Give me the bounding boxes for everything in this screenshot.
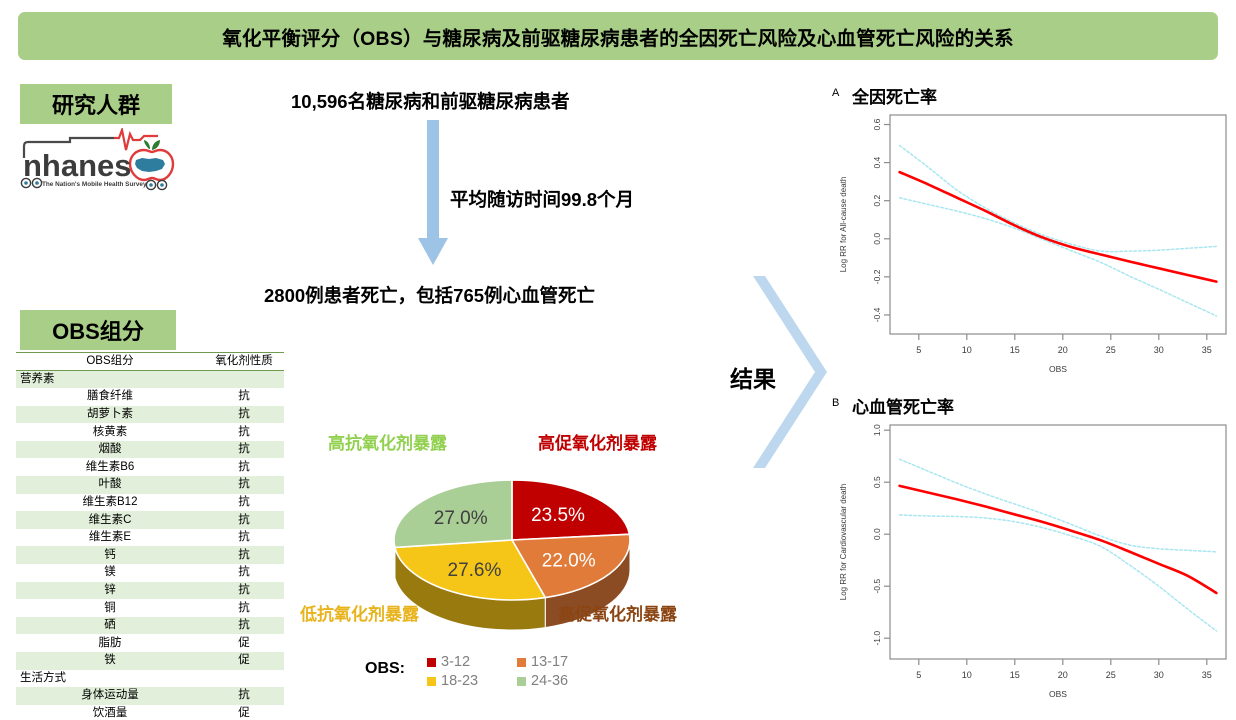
component-name: 铜	[16, 599, 204, 617]
y-axis-label: Log RR for Cardiovascular death	[839, 484, 848, 601]
y-tick-label: 0.6	[872, 118, 882, 130]
component-name: 核黄素	[16, 423, 204, 441]
table-row: 核黄素抗	[16, 423, 284, 441]
y-tick-label: 0.4	[872, 156, 882, 168]
y-tick-label: 0.0	[872, 528, 882, 540]
x-axis-label: OBS	[1049, 364, 1067, 374]
y-tick-label: -0.5	[872, 579, 882, 594]
down-arrow-icon	[415, 120, 451, 270]
oxidant-property: 抗	[204, 476, 284, 494]
oxidant-property	[204, 371, 284, 389]
legend-swatch-1	[517, 658, 526, 667]
oxidant-property: 促	[204, 652, 284, 670]
x-tick-label: 25	[1106, 670, 1116, 680]
legend-label-1: 13-17	[531, 654, 568, 670]
y-tick-label: -0.4	[872, 307, 882, 322]
oxidant-property: 抗	[204, 494, 284, 512]
legend-label-2: 18-23	[441, 673, 478, 689]
component-name: 维生素E	[16, 529, 204, 547]
nhanes-tagline: The Nation's Mobile Health Survey	[42, 181, 147, 188]
table-header-row: OBS组分 氧化剂性质	[16, 353, 284, 371]
x-tick-label: 30	[1154, 345, 1164, 355]
legend-swatch-3	[517, 677, 526, 686]
section-header-obs-components-label: OBS组分	[52, 314, 144, 346]
table-row: 烟酸抗	[16, 441, 284, 459]
x-tick-label: 10	[962, 345, 972, 355]
legend-item-2: 18-23	[427, 673, 478, 689]
table-row: 叶酸抗	[16, 476, 284, 494]
legend-item-3: 24-36	[517, 673, 568, 689]
x-tick-label: 5	[916, 345, 921, 355]
y-tick-label: -1.0	[872, 631, 882, 646]
panel-letter-a: A	[832, 87, 839, 99]
y-tick-label: 1.0	[872, 424, 882, 436]
table-row: 维生素B12抗	[16, 494, 284, 512]
component-name: 铁	[16, 652, 204, 670]
table-row: 镁抗	[16, 564, 284, 582]
table-row: 身体运动量抗	[16, 687, 284, 705]
page-title-banner: 氧化平衡评分（OBS）与糖尿病及前驱糖尿病患者的全因死亡风险及心血管死亡风险的关…	[18, 12, 1218, 60]
table-row: 胡萝卜素抗	[16, 406, 284, 424]
group-label: 营养素	[16, 371, 204, 389]
table-row: 维生素C抗	[16, 511, 284, 529]
panel-title-b: 心血管死亡率	[852, 393, 954, 418]
pie-annotation-low-antioxidant: 低抗氧化剂暴露	[300, 600, 419, 625]
oxidant-property: 抗	[204, 617, 284, 635]
pie-data-label-2: 27.6%	[448, 560, 502, 581]
oxidant-property: 抗	[204, 599, 284, 617]
chart-panel-all-cause-mortality: A 全因死亡率 -0.4-0.20.00.20.40.6Log RR for A…	[830, 85, 1236, 390]
x-axis-label: OBS	[1049, 689, 1067, 699]
component-name: 钙	[16, 546, 204, 564]
x-tick-label: 20	[1058, 670, 1068, 680]
table-group-row: 营养素	[16, 371, 284, 389]
component-name: 脂肪	[16, 634, 204, 652]
pie-annotation-high-prooxidant-top: 高促氧化剂暴露	[538, 429, 657, 454]
legend-label-0: 3-12	[441, 654, 470, 670]
oxidant-property: 促	[204, 705, 284, 720]
plot-b-svg: -1.0-0.50.00.51.0Log RR for Cardiovascul…	[830, 417, 1236, 715]
table-group-row: 生活方式	[16, 670, 284, 688]
table-row: 锌抗	[16, 582, 284, 600]
column-header-property: 氧化剂性质	[204, 353, 284, 371]
legend-label-3: 24-36	[531, 673, 568, 689]
legend-item-0: 3-12	[427, 654, 470, 670]
component-name: 维生素B12	[16, 494, 204, 512]
nhanes-logo: nhanes The Nation's Mobile Health Survey	[18, 128, 178, 194]
x-tick-label: 35	[1202, 670, 1212, 680]
y-tick-label: 0.0	[872, 233, 882, 245]
legend-item-1: 13-17	[517, 654, 568, 670]
y-tick-label: 0.2	[872, 195, 882, 207]
oxidant-property: 抗	[204, 441, 284, 459]
component-name: 叶酸	[16, 476, 204, 494]
pie-annotation-high-prooxidant-bottom: 高促氧化剂暴露	[558, 600, 677, 625]
table-row: 维生素B6抗	[16, 458, 284, 476]
legend-swatch-0	[427, 658, 436, 667]
component-name: 维生素B6	[16, 458, 204, 476]
oxidant-property: 抗	[204, 582, 284, 600]
x-tick-label: 15	[1010, 345, 1020, 355]
oxidant-property: 抗	[204, 458, 284, 476]
page-title: 氧化平衡评分（OBS）与糖尿病及前驱糖尿病患者的全因死亡风险及心血管死亡风险的关…	[222, 22, 1013, 51]
results-label: 结果	[730, 360, 776, 394]
table-row: 铜抗	[16, 599, 284, 617]
component-name: 身体运动量	[16, 687, 204, 705]
panel-letter-b: B	[832, 397, 839, 409]
pie-data-label-0: 23.5%	[531, 505, 585, 526]
x-tick-label: 15	[1010, 670, 1020, 680]
pie-legend-title: OBS:	[365, 660, 405, 678]
oxidant-property: 抗	[204, 511, 284, 529]
pie-annotation-high-antioxidant: 高抗氧化剂暴露	[328, 429, 447, 454]
oxidant-property: 抗	[204, 423, 284, 441]
oxidant-property: 抗	[204, 406, 284, 424]
table-row: 钙抗	[16, 546, 284, 564]
component-name: 硒	[16, 617, 204, 635]
table-row: 硒抗	[16, 617, 284, 635]
obs-components-table: OBS组分 氧化剂性质 营养素膳食纤维抗胡萝卜素抗核黄素抗烟酸抗维生素B6抗叶酸…	[16, 352, 284, 720]
section-header-obs-components: OBS组分	[20, 310, 176, 350]
chart-panel-cardiovascular-mortality: B 心血管死亡率 -1.0-0.50.00.51.0Log RR for Car…	[830, 395, 1236, 715]
component-name: 胡萝卜素	[16, 406, 204, 424]
table-row: 饮酒量促	[16, 705, 284, 720]
flow-deaths-text: 2800例患者死亡，包括765例心血管死亡	[264, 282, 595, 308]
component-name: 烟酸	[16, 441, 204, 459]
pie-data-label-1: 22.0%	[542, 550, 596, 571]
component-name: 镁	[16, 564, 204, 582]
nhanes-wordmark: nhanes	[23, 148, 132, 183]
y-axis-label: Log RR for All-cause death	[839, 177, 848, 273]
x-tick-label: 25	[1106, 345, 1116, 355]
oxidant-property: 抗	[204, 564, 284, 582]
component-name: 锌	[16, 582, 204, 600]
oxidant-property: 抗	[204, 388, 284, 406]
oxidant-property	[204, 670, 284, 688]
plot-a-svg: -0.4-0.20.00.20.40.6Log RR for All-cause…	[830, 107, 1236, 390]
oxidant-property: 抗	[204, 546, 284, 564]
legend-swatch-2	[427, 677, 436, 686]
column-header-component: OBS组分	[16, 353, 204, 371]
y-tick-label: -0.2	[872, 269, 882, 284]
table-row: 铁促	[16, 652, 284, 670]
x-tick-label: 30	[1154, 670, 1164, 680]
section-header-study-population-label: 研究人群	[52, 88, 140, 120]
x-tick-label: 5	[916, 670, 921, 680]
panel-title-a: 全因死亡率	[852, 83, 937, 108]
component-name: 维生素C	[16, 511, 204, 529]
group-label: 生活方式	[16, 670, 204, 688]
flow-cohort-text: 10,596名糖尿病和前驱糖尿病患者	[291, 88, 570, 114]
table-row: 维生素E抗	[16, 529, 284, 547]
table-row: 膳食纤维抗	[16, 388, 284, 406]
x-tick-label: 20	[1058, 345, 1068, 355]
component-name: 饮酒量	[16, 705, 204, 720]
oxidant-property: 抗	[204, 687, 284, 705]
x-tick-label: 10	[962, 670, 972, 680]
section-header-study-population: 研究人群	[20, 84, 172, 124]
flow-followup-text: 平均随访时间99.8个月	[450, 186, 634, 212]
pie-legend: OBS: 3-12 13-17 18-23 24-36	[365, 650, 625, 696]
oxidant-property: 促	[204, 634, 284, 652]
table-row: 脂肪促	[16, 634, 284, 652]
x-tick-label: 35	[1202, 345, 1212, 355]
oxidant-property: 抗	[204, 529, 284, 547]
component-name: 膳食纤维	[16, 388, 204, 406]
y-tick-label: 0.5	[872, 476, 882, 488]
pie-data-label-3: 27.0%	[434, 508, 488, 529]
